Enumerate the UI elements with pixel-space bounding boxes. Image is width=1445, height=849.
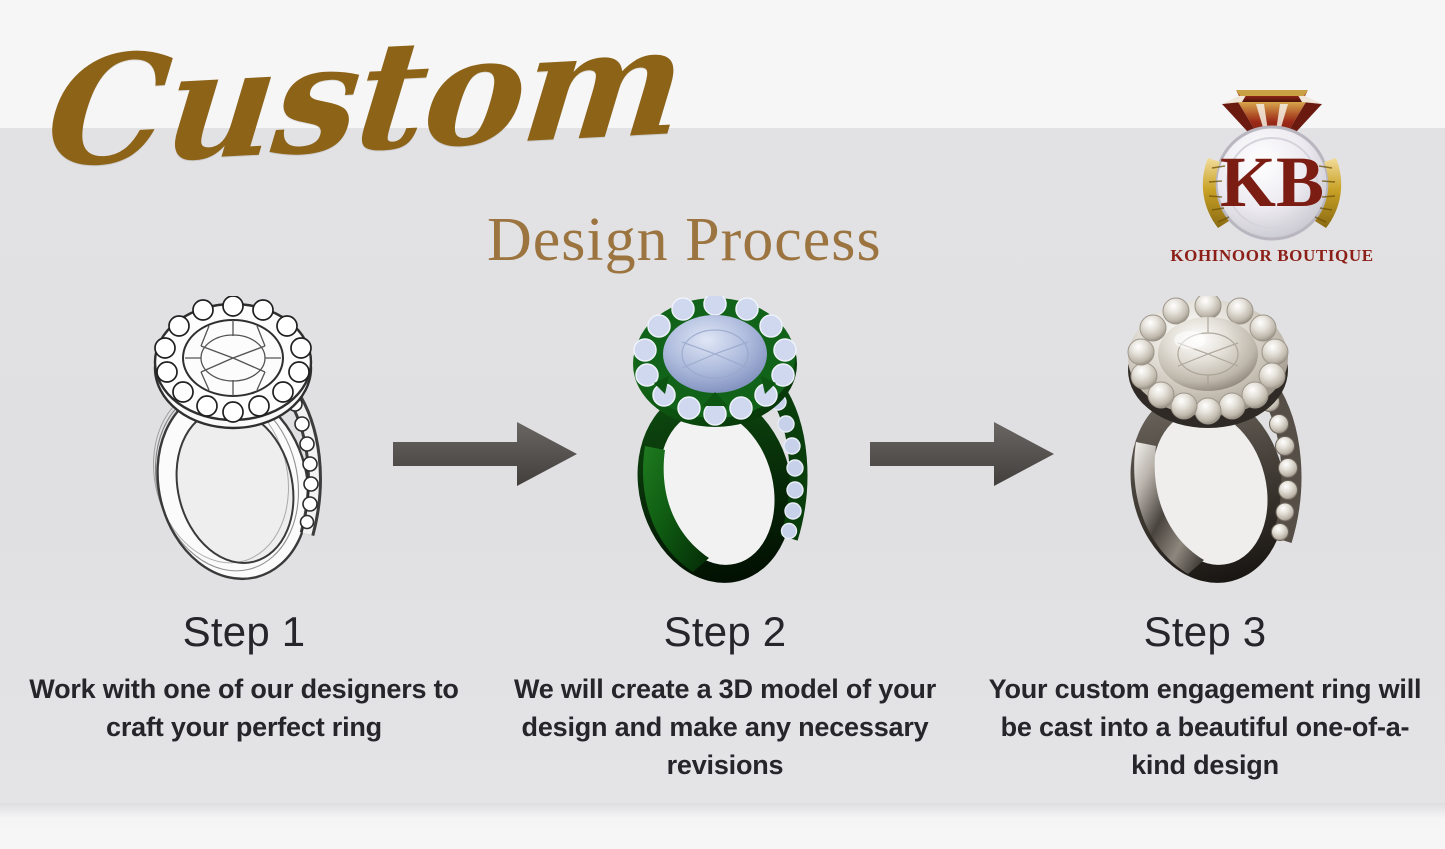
arrow-step1-to-step2-icon — [385, 414, 585, 494]
logo-monogram: KB — [1220, 142, 1324, 222]
step-3-title: Step 3 — [975, 606, 1435, 658]
halo-head — [1128, 296, 1288, 428]
process-illustrations — [0, 296, 1445, 596]
step-1: Step 1 Work with one of our designers to… — [14, 606, 474, 746]
logo-mark-icon: KB — [1152, 58, 1392, 250]
step-3: Step 3 Your custom engagement ring will … — [975, 606, 1435, 784]
brand-logo: KB KOHINOOR BOUTIQUE — [1152, 58, 1392, 286]
ring-sketch-line-drawing-icon — [115, 296, 375, 586]
arrow-step2-to-step3-icon — [862, 414, 1062, 494]
step-3-description: Your custom engagement ring will be cast… — [975, 670, 1435, 784]
halo-head — [155, 296, 311, 428]
step-2-description: We will create a 3D model of your design… — [505, 670, 945, 784]
brand-name: KOHINOOR BOUTIQUE — [1152, 246, 1392, 266]
step-1-description: Work with one of our designers to craft … — [14, 670, 474, 746]
page-subtitle: Design Process — [487, 204, 882, 276]
halo-head — [633, 296, 797, 427]
step-2-title: Step 2 — [505, 606, 945, 658]
step-captions: Step 1 Work with one of our designers to… — [0, 606, 1445, 806]
ring-3d-cad-model-icon — [597, 296, 857, 586]
step-2: Step 2 We will create a 3D model of your… — [505, 606, 945, 784]
page-title-script: Custom — [37, 0, 704, 229]
step-1-title: Step 1 — [14, 606, 474, 658]
custom-design-process-banner: Custom Design Process — [0, 0, 1445, 849]
background-band-bottom — [0, 803, 1445, 849]
ring-finished-photo-icon — [1090, 296, 1350, 586]
